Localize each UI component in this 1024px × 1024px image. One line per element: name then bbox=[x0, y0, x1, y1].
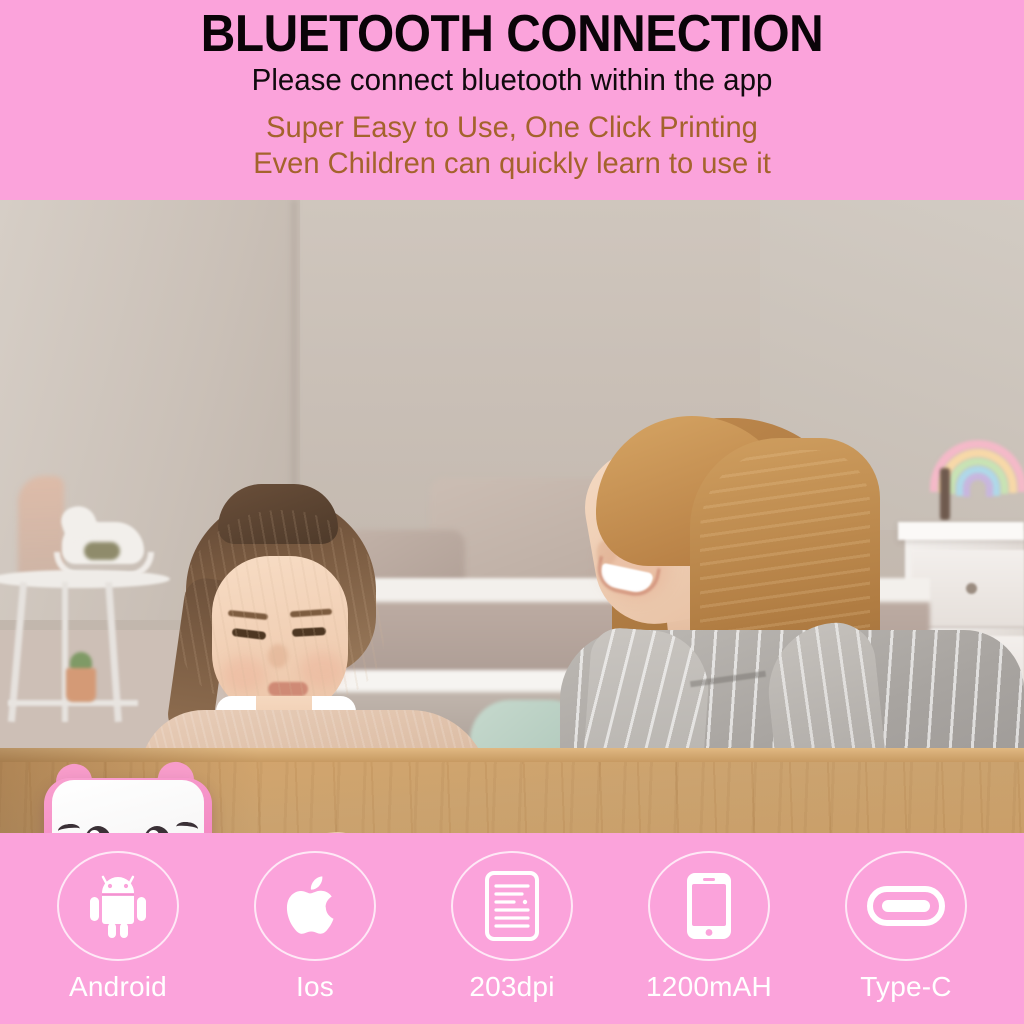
lifestyle-photo bbox=[0, 200, 1024, 833]
usb-c-icon bbox=[867, 886, 945, 926]
feature-item-ios: Ios bbox=[231, 851, 399, 1003]
feature-item-android: Android bbox=[34, 851, 202, 1003]
apple-icon bbox=[286, 872, 344, 940]
feature-icon-circle bbox=[451, 851, 573, 961]
product-banner: BLUETOOTH CONNECTION Please connect blue… bbox=[0, 0, 1024, 1024]
android-icon bbox=[88, 873, 148, 939]
document-icon bbox=[484, 870, 540, 942]
drawer-knob bbox=[966, 583, 977, 594]
feature-label: Android bbox=[69, 971, 167, 1003]
printer-cat-face-icon bbox=[52, 810, 204, 833]
feature-item-battery: 1200mAH bbox=[625, 851, 793, 1003]
header-banner: BLUETOOTH CONNECTION Please connect blue… bbox=[0, 0, 1024, 200]
feature-icon-circle bbox=[648, 851, 770, 961]
feature-icon-circle bbox=[57, 851, 179, 961]
feature-icon-circle bbox=[254, 851, 376, 961]
phone-icon bbox=[685, 871, 733, 941]
tagline-line-2: Even Children can quickly learn to use i… bbox=[15, 146, 1008, 182]
feature-label: Ios bbox=[296, 971, 334, 1003]
feature-label: 1200mAH bbox=[646, 971, 772, 1003]
feature-item-typec: Type-C bbox=[822, 851, 990, 1003]
plant-pot bbox=[66, 668, 96, 702]
rocking-horse-saddle bbox=[84, 542, 120, 560]
feature-bar: Android Ios bbox=[0, 833, 1024, 1024]
feature-item-dpi: 203dpi bbox=[428, 851, 596, 1003]
tagline: Super Easy to Use, One Click Printing Ev… bbox=[15, 110, 1008, 182]
page-title: BLUETOOTH CONNECTION bbox=[41, 6, 983, 62]
feature-label: 203dpi bbox=[469, 971, 554, 1003]
page-subtitle: Please connect bluetooth within the app bbox=[26, 62, 999, 98]
feature-icon-circle bbox=[845, 851, 967, 961]
dresser-top bbox=[898, 522, 1024, 540]
tagline-line-1: Super Easy to Use, One Click Printing bbox=[15, 110, 1008, 146]
feature-label: Type-C bbox=[860, 971, 951, 1003]
rainbow-stand bbox=[940, 468, 950, 520]
girl-hair-wisps bbox=[180, 510, 384, 700]
